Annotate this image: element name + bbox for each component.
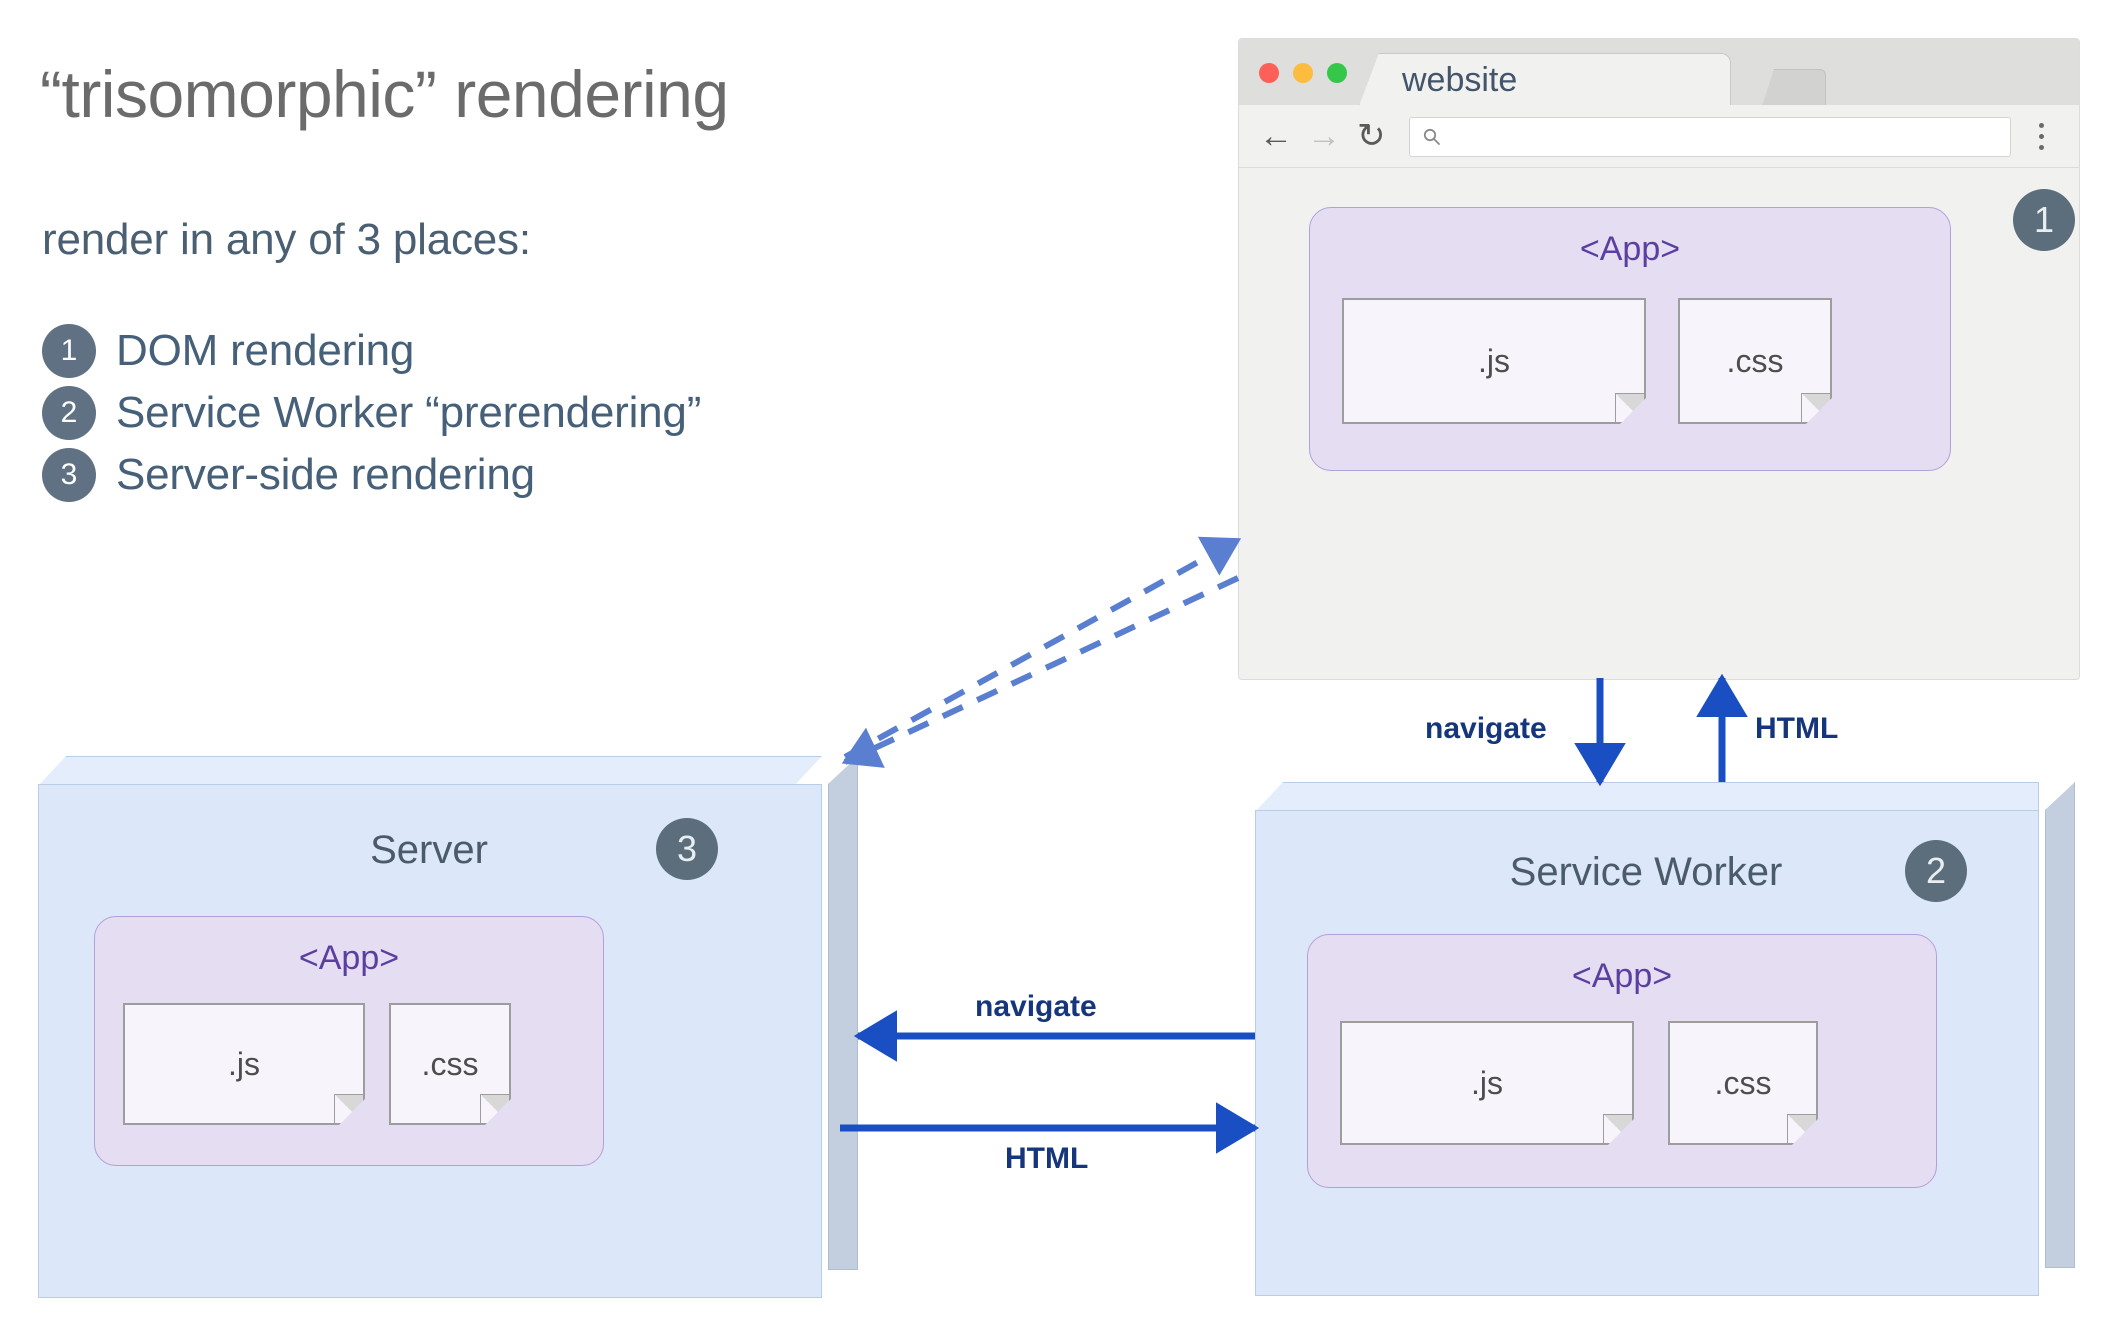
- address-bar[interactable]: [1409, 117, 2011, 157]
- arrow-label-navigate-sw: navigate: [975, 990, 1097, 1024]
- browser-app-container: <App> .js .css: [1309, 207, 1951, 471]
- browser-menu-icon[interactable]: [2039, 123, 2045, 151]
- page-subtitle: render in any of 3 places:: [42, 215, 942, 265]
- dashed-arrow-browser-to-server: [845, 578, 1238, 762]
- forward-arrow-icon[interactable]: →: [1307, 119, 1341, 153]
- list-item: 3 Server-side rendering: [42, 444, 1042, 506]
- browser-file-css: .css: [1678, 298, 1832, 424]
- traffic-light-maximize-icon[interactable]: [1327, 63, 1347, 83]
- sw-app-label: <App>: [1308, 957, 1936, 996]
- browser-nav-bar: ← → ↻: [1239, 105, 2079, 168]
- sw-file-css: .css: [1668, 1021, 1818, 1145]
- file-label: .css: [422, 1046, 479, 1083]
- service-worker-step-badge: 2: [1905, 840, 1967, 902]
- browser-tab-secondary[interactable]: [1762, 69, 1826, 106]
- arrow-label-html-server: HTML: [1005, 1142, 1088, 1176]
- list-item-label: Service Worker “prerendering”: [116, 388, 701, 438]
- page-fold-icon: [334, 1094, 363, 1123]
- page-fold-icon: [480, 1094, 509, 1123]
- page-fold-icon: [1787, 1114, 1816, 1143]
- browser-app-label: <App>: [1310, 230, 1950, 269]
- browser-file-js: .js: [1342, 298, 1646, 424]
- file-label: .css: [1715, 1065, 1772, 1102]
- page-fold-icon: [1801, 393, 1830, 422]
- browser-tab-bar: website: [1239, 39, 2079, 106]
- list-item-label: Server-side rendering: [116, 450, 535, 500]
- back-arrow-icon[interactable]: ←: [1259, 119, 1293, 153]
- file-label: .js: [228, 1046, 260, 1083]
- server-file-css: .css: [389, 1003, 511, 1125]
- traffic-light-close-icon[interactable]: [1259, 63, 1279, 83]
- file-label: .js: [1471, 1065, 1503, 1102]
- sw-app-container: <App> .js .css: [1307, 934, 1937, 1188]
- page-title: “trisomorphic” rendering: [40, 58, 1020, 131]
- reload-icon[interactable]: ↻: [1357, 119, 1386, 153]
- server-file-js: .js: [123, 1003, 365, 1125]
- browser-tab-website[interactable]: website: [1359, 53, 1731, 106]
- browser-tab-label: website: [1402, 61, 1517, 100]
- service-worker-box: Service Worker 2 <App> .js .css: [1255, 782, 2075, 1294]
- browser-step-badge: 1: [2013, 189, 2075, 251]
- list-item: 1 DOM rendering: [42, 320, 1042, 382]
- server-app-container: <App> .js .css: [94, 916, 604, 1166]
- file-label: .js: [1478, 343, 1510, 380]
- list-number-badge: 3: [42, 448, 96, 502]
- places-list: 1 DOM rendering 2 Service Worker “preren…: [42, 320, 1042, 506]
- page-fold-icon: [1615, 393, 1644, 422]
- server-step-badge: 3: [656, 818, 718, 880]
- sw-file-js: .js: [1340, 1021, 1634, 1145]
- list-number-badge: 1: [42, 324, 96, 378]
- search-icon: [1422, 127, 1442, 147]
- server-app-label: <App>: [95, 939, 603, 978]
- file-label: .css: [1727, 343, 1784, 380]
- arrow-label-navigate-browser: navigate: [1425, 712, 1547, 746]
- arrow-label-html-sw: HTML: [1755, 712, 1838, 746]
- browser-window: website ← → ↻ <App> .js .css 1: [1238, 38, 2080, 680]
- traffic-light-minimize-icon[interactable]: [1293, 63, 1313, 83]
- list-item: 2 Service Worker “prerendering”: [42, 382, 1042, 444]
- dashed-arrow-server-to-browser: [845, 540, 1238, 757]
- list-number-badge: 2: [42, 386, 96, 440]
- page-fold-icon: [1603, 1114, 1632, 1143]
- list-item-label: DOM rendering: [116, 326, 414, 376]
- server-box: Server 3 <App> .js .css: [38, 756, 858, 1296]
